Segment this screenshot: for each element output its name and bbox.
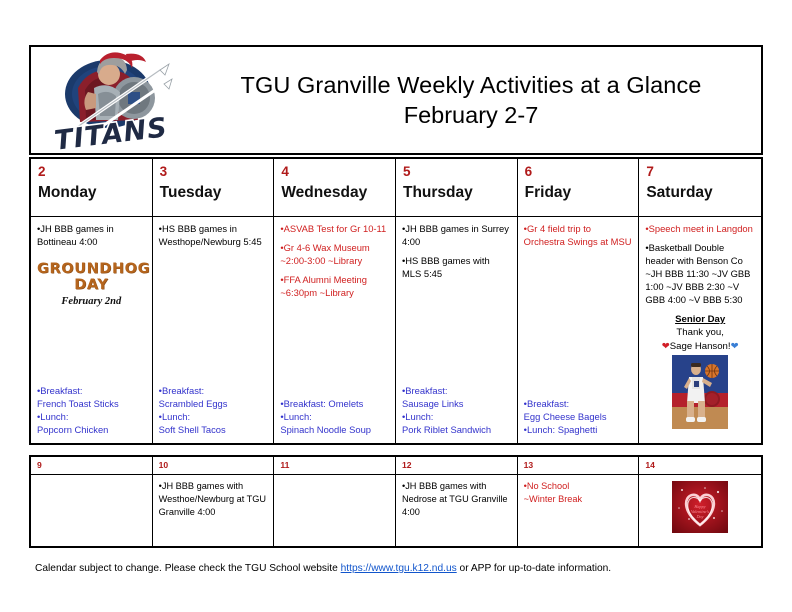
meal-line: •Breakfast:	[524, 398, 633, 411]
day-body-thursday: •JH BBB games in Surrey 4:00 •HS BBB gam…	[396, 217, 517, 443]
day-name: Monday	[38, 183, 145, 203]
event-item: •JH BBB games in Bottineau 4:00	[37, 223, 146, 249]
event-item: •Gr 4 field trip to Orchestra Swings at …	[524, 223, 633, 249]
day-number: 5	[403, 164, 510, 181]
page-title: TGU Granville Weekly Activities at a Gla…	[191, 70, 751, 100]
events-list: •HS BBB games in Westhope/Newburg 5:45	[159, 223, 268, 385]
day-header-monday: 2 Monday	[31, 159, 152, 217]
meal-line: •Breakfast: Omelets	[280, 398, 389, 411]
senior-day-title: Senior Day	[645, 313, 755, 326]
day-body-12: •JH BBB games with Nedrose at TGU Granvi…	[396, 475, 517, 546]
meal-line: Soft Shell Tacos	[159, 424, 268, 437]
tgu-website-link[interactable]: https://www.tgu.k12.nd.us	[341, 563, 457, 574]
event-item: •Basketball Double header with Benson Co…	[645, 242, 755, 307]
event-item: •ASVAB Test for Gr 10-11	[280, 223, 389, 236]
day-column-monday: 2 Monday •JH BBB games in Bottineau 4:00…	[31, 159, 153, 443]
groundhog-word-line1: GROUNDHOG	[37, 261, 146, 277]
event-item: •JH BBB games with Westhoe/Newburg at TG…	[159, 480, 268, 519]
day-body-9	[31, 475, 152, 546]
heart-red-icon: ❤	[662, 341, 670, 352]
day-number: 14	[645, 460, 755, 470]
calendar-page: TITANS TGU Granville Weekly Activities a…	[0, 0, 792, 612]
events-list: •JH BBB games in Surrey 4:00 •HS BBB gam…	[402, 223, 511, 385]
svg-text:Day: Day	[696, 514, 704, 519]
day-header-12: 12	[396, 457, 517, 475]
day-number: 12	[402, 460, 511, 470]
groundhog-word-line2: DAY	[37, 277, 146, 293]
day-number: 6	[525, 164, 632, 181]
day-name: Tuesday	[160, 183, 267, 203]
event-item: •Gr 4-6 Wax Museum ~2:00-3:00 ~Library	[280, 242, 389, 268]
events-list: •Gr 4 field trip to Orchestra Swings at …	[524, 223, 633, 398]
senior-day-block: Senior Day Thank you, ❤Sage Hanson!❤	[645, 313, 755, 429]
day-body-monday: •JH BBB games in Bottineau 4:00 GROUNDHO…	[31, 217, 152, 443]
meal-line: •Breakfast:	[37, 385, 146, 398]
meal-line: Popcorn Chicken	[37, 424, 146, 437]
meals-block: •Breakfast: Omelets •Lunch: Spinach Nood…	[280, 398, 389, 439]
senior-day-name-line: ❤Sage Hanson!❤	[645, 340, 755, 353]
day-number: 7	[646, 164, 754, 181]
day-number: 9	[37, 460, 146, 470]
meal-line: •Lunch:	[159, 411, 268, 424]
day-body-13: •No School ~Winter Break	[518, 475, 639, 546]
day-column-13: 13 •No School ~Winter Break	[518, 457, 640, 546]
day-body-saturday: •Speech meet in Langdon •Basketball Doub…	[639, 217, 761, 443]
event-item: •Speech meet in Langdon	[645, 223, 755, 236]
day-number: 11	[280, 460, 389, 470]
event-item: ~Winter Break	[524, 493, 633, 506]
day-number: 3	[160, 164, 267, 181]
events-list: •Speech meet in Langdon •Basketball Doub…	[645, 223, 755, 439]
day-column-thursday: 5 Thursday •JH BBB games in Surrey 4:00 …	[396, 159, 518, 443]
day-name: Thursday	[403, 183, 510, 203]
day-number: 13	[524, 460, 633, 470]
header-banner: TITANS TGU Granville Weekly Activities a…	[29, 45, 763, 155]
meal-line: Scrambled Eggs	[159, 398, 268, 411]
day-number: 2	[38, 164, 145, 181]
meal-line: •Lunch:	[280, 411, 389, 424]
heart-blue-icon: ❤	[731, 341, 739, 352]
events-list: •JH BBB games in Bottineau 4:00 GROUNDHO…	[37, 223, 146, 385]
meals-block: •Breakfast: Scrambled Eggs •Lunch: Soft …	[159, 385, 268, 439]
day-number: 10	[159, 460, 268, 470]
event-item: •HS BBB games in Westhope/Newburg 5:45	[159, 223, 268, 249]
footer-note: Calendar subject to change. Please check…	[35, 562, 611, 575]
day-column-friday: 6 Friday •Gr 4 field trip to Orchestra S…	[518, 159, 640, 443]
meal-line: Sausage Links	[402, 398, 511, 411]
titans-logo-cell: TITANS	[31, 47, 191, 153]
meal-line: •Breakfast:	[159, 385, 268, 398]
day-name: Friday	[525, 183, 632, 203]
meal-line: •Lunch:	[402, 411, 511, 424]
footer-text-before: Calendar subject to change. Please check…	[35, 563, 341, 574]
page-subtitle-daterange: February 2-7	[191, 100, 751, 130]
header-title-cell: TGU Granville Weekly Activities at a Gla…	[191, 70, 761, 130]
week-grid-primary: 2 Monday •JH BBB games in Bottineau 4:00…	[29, 157, 763, 445]
day-header-friday: 6 Friday	[518, 159, 639, 217]
day-column-9: 9	[31, 457, 153, 546]
meals-block: •Breakfast: French Toast Sticks •Lunch: …	[37, 385, 146, 439]
basketball-player-photo	[672, 355, 728, 429]
day-header-tuesday: 3 Tuesday	[153, 159, 274, 217]
day-column-14: 14	[639, 457, 761, 546]
day-body-10: •JH BBB games with Westhoe/Newburg at TG…	[153, 475, 274, 546]
senior-day-thanks: Thank you,	[645, 326, 755, 339]
day-column-10: 10 •JH BBB games with Westhoe/Newburg at…	[153, 457, 275, 546]
day-body-tuesday: •HS BBB games in Westhope/Newburg 5:45 •…	[153, 217, 274, 443]
event-item: •No School	[524, 480, 633, 493]
day-body-14: Happy Valentine's Day	[639, 475, 761, 546]
event-item: •FFA Alumni Meeting ~6:30pm ~Library	[280, 274, 389, 300]
day-name: Saturday	[646, 183, 754, 203]
day-header-saturday: 7 Saturday	[639, 159, 761, 217]
event-item: •HS BBB games with MLS 5:45	[402, 255, 511, 281]
day-header-14: 14	[639, 457, 761, 475]
day-number: 4	[281, 164, 388, 181]
day-name: Wednesday	[281, 183, 388, 203]
day-header-thursday: 5 Thursday	[396, 159, 517, 217]
event-item: •JH BBB games with Nedrose at TGU Granvi…	[402, 480, 511, 519]
day-column-12: 12 •JH BBB games with Nedrose at TGU Gra…	[396, 457, 518, 546]
groundhog-day-graphic: GROUNDHOG DAY February 2nd	[37, 261, 146, 307]
valentine-heart-graphic: Happy Valentine's Day	[672, 481, 728, 533]
meal-line: •Lunch:	[37, 411, 146, 424]
senior-day-name: Sage Hanson!	[670, 341, 731, 352]
day-column-saturday: 7 Saturday •Speech meet in Langdon •Bask…	[639, 159, 761, 443]
day-column-11: 11	[274, 457, 396, 546]
event-item: •JH BBB games in Surrey 4:00	[402, 223, 511, 249]
day-header-13: 13	[518, 457, 639, 475]
titans-logo-icon: TITANS	[42, 48, 180, 152]
day-body-friday: •Gr 4 field trip to Orchestra Swings at …	[518, 217, 639, 443]
meal-line: Pork Riblet Sandwich	[402, 424, 511, 437]
week-grid-secondary: 9 10 •JH BBB games with Westhoe/Newburg …	[29, 455, 763, 548]
day-header-wednesday: 4 Wednesday	[274, 159, 395, 217]
events-list: •ASVAB Test for Gr 10-11 •Gr 4-6 Wax Mus…	[280, 223, 389, 398]
meals-block: •Breakfast: Sausage Links •Lunch: Pork R…	[402, 385, 511, 439]
day-body-11	[274, 475, 395, 546]
meals-block: •Breakfast: Egg Cheese Bagels •Lunch: Sp…	[524, 398, 633, 439]
groundhog-date: February 2nd	[37, 296, 146, 307]
meal-line: •Lunch: Spaghetti	[524, 424, 633, 437]
day-body-wednesday: •ASVAB Test for Gr 10-11 •Gr 4-6 Wax Mus…	[274, 217, 395, 443]
footer-text-after: or APP for up-to-date information.	[457, 563, 611, 574]
meal-line: French Toast Sticks	[37, 398, 146, 411]
day-column-tuesday: 3 Tuesday •HS BBB games in Westhope/Newb…	[153, 159, 275, 443]
day-column-wednesday: 4 Wednesday •ASVAB Test for Gr 10-11 •Gr…	[274, 159, 396, 443]
meal-line: •Breakfast:	[402, 385, 511, 398]
day-header-11: 11	[274, 457, 395, 475]
svg-text:TITANS: TITANS	[53, 112, 170, 152]
meal-line: Spinach Noodle Soup	[280, 424, 389, 437]
day-header-9: 9	[31, 457, 152, 475]
day-header-10: 10	[153, 457, 274, 475]
meal-line: Egg Cheese Bagels	[524, 411, 633, 424]
